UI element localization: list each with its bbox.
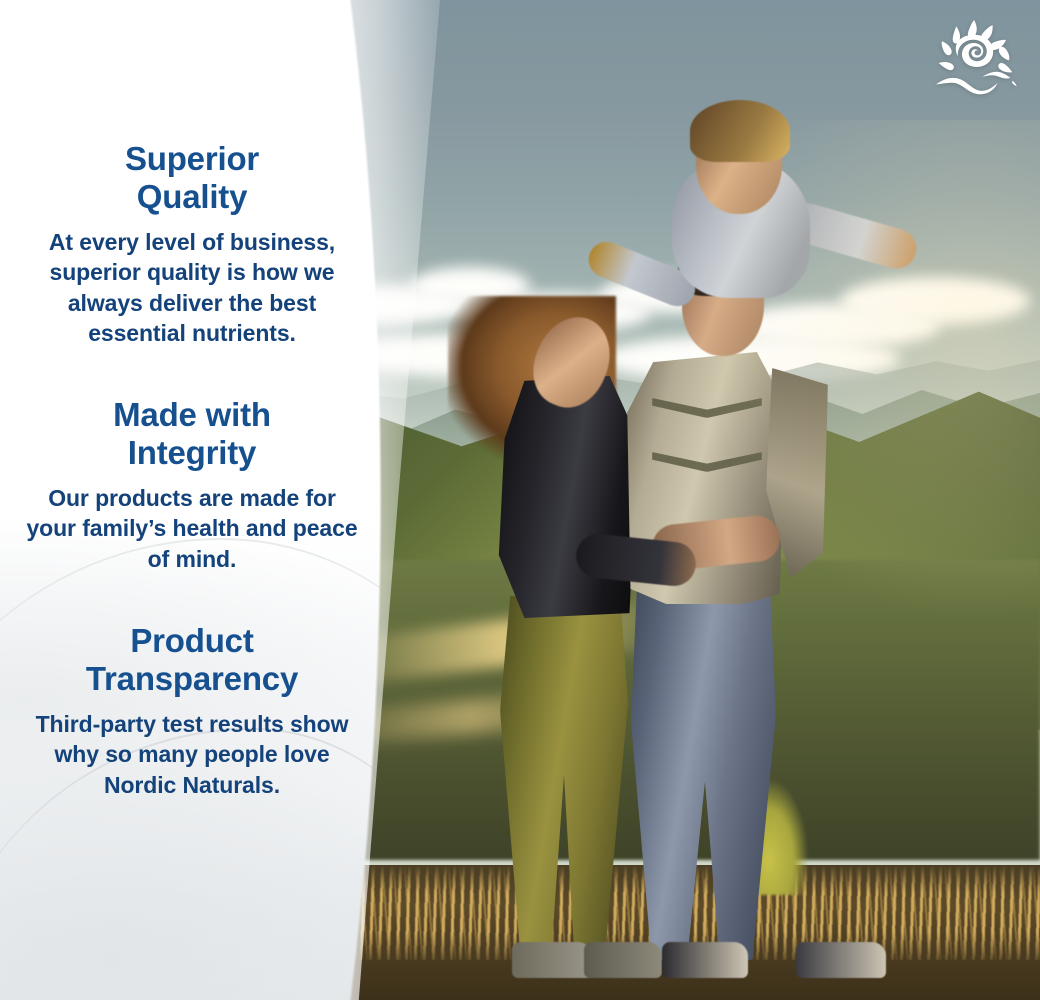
feature-heading: Product Transparency <box>22 622 362 699</box>
feature-heading: Superior Quality <box>22 140 362 217</box>
heading-line: Integrity <box>128 434 256 471</box>
shoe <box>662 942 748 978</box>
promo-banner: Superior Quality At every level of busin… <box>0 0 1040 1000</box>
shoe <box>584 942 662 978</box>
feature-made-with-integrity: Made with Integrity Our products are mad… <box>22 396 362 574</box>
child-hair <box>690 100 790 162</box>
woman-legs <box>500 596 628 954</box>
feature-product-transparency: Product Transparency Third-party test re… <box>22 622 362 800</box>
shoe <box>796 942 886 978</box>
feature-body: At every level of business, superior qua… <box>22 227 362 349</box>
panel-content: Superior Quality At every level of busin… <box>0 0 380 1000</box>
man-jeans <box>628 588 776 960</box>
family-mountain-photo <box>300 0 1040 1000</box>
heading-line: Superior <box>125 140 259 177</box>
woman-jacket <box>496 376 638 618</box>
heading-line: Made with <box>113 396 271 433</box>
family-group <box>300 0 1040 1000</box>
feature-superior-quality: Superior Quality At every level of busin… <box>22 140 362 349</box>
feature-body: Third-party test results show why so man… <box>22 709 362 801</box>
feature-body: Our products are made for your family’s … <box>22 483 362 575</box>
heading-line: Transparency <box>86 660 298 697</box>
feature-heading: Made with Integrity <box>22 396 362 473</box>
shoe <box>512 942 592 978</box>
heading-line: Quality <box>137 178 247 215</box>
sun-wave-logo-icon <box>930 18 1022 98</box>
heading-line: Product <box>130 622 253 659</box>
